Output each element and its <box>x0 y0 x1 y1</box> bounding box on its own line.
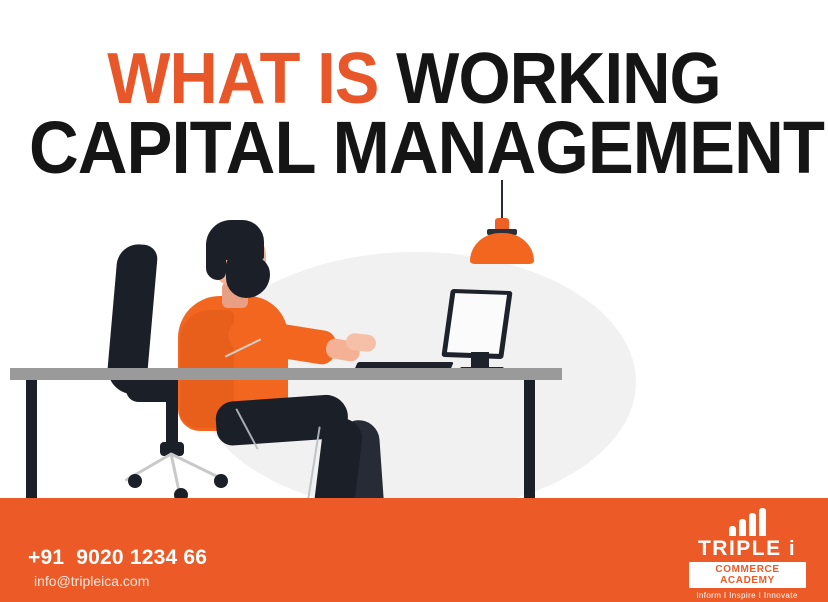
desk-leg-left <box>26 380 37 500</box>
chair-wheel <box>128 474 142 488</box>
lamp-shade <box>470 233 534 264</box>
desk-leg-right <box>524 380 535 500</box>
pendant-lamp-icon <box>470 180 560 270</box>
monitor-screen <box>447 293 507 354</box>
brand-logo[interactable]: TRIPLE i COMMERCE ACADEMY Inform I Inspi… <box>686 508 808 590</box>
desk-top <box>10 368 562 380</box>
headline-line-2: CAPITAL MANAGEMENT <box>29 114 799 182</box>
person-beard <box>226 256 270 298</box>
logo-title-i: i <box>789 538 796 560</box>
logo-title: TRIPLE i <box>686 538 808 559</box>
logo-bar <box>759 508 766 536</box>
monitor <box>440 290 526 372</box>
person-hair-back <box>206 236 226 280</box>
logo-subtitle: COMMERCE ACADEMY <box>689 562 806 588</box>
person-hand-right <box>345 332 377 352</box>
contact-email[interactable]: info@tripleica.com <box>34 573 448 589</box>
bar-chart-icon <box>725 508 769 536</box>
logo-bar <box>739 519 746 536</box>
logo-bar <box>729 526 736 536</box>
poster-canvas: WHAT IS WORKING CAPITAL MANAGEMENT <box>0 0 828 602</box>
contact-phone[interactable]: +91 9020 1234 66 <box>28 546 448 570</box>
page-title: WHAT IS WORKING CAPITAL MANAGEMENT <box>0 46 828 182</box>
headline-line-1: WHAT IS WORKING <box>29 46 799 112</box>
illustration-stage <box>0 180 828 500</box>
logo-bar <box>749 513 756 536</box>
contact-block: +91 9020 1234 66 info@tripleica.com <box>28 546 448 589</box>
logo-title-text: TRIPLE <box>698 537 782 560</box>
lamp-cord <box>501 180 503 220</box>
logo-tagline: Inform I Inspire I Innovate <box>686 591 808 600</box>
